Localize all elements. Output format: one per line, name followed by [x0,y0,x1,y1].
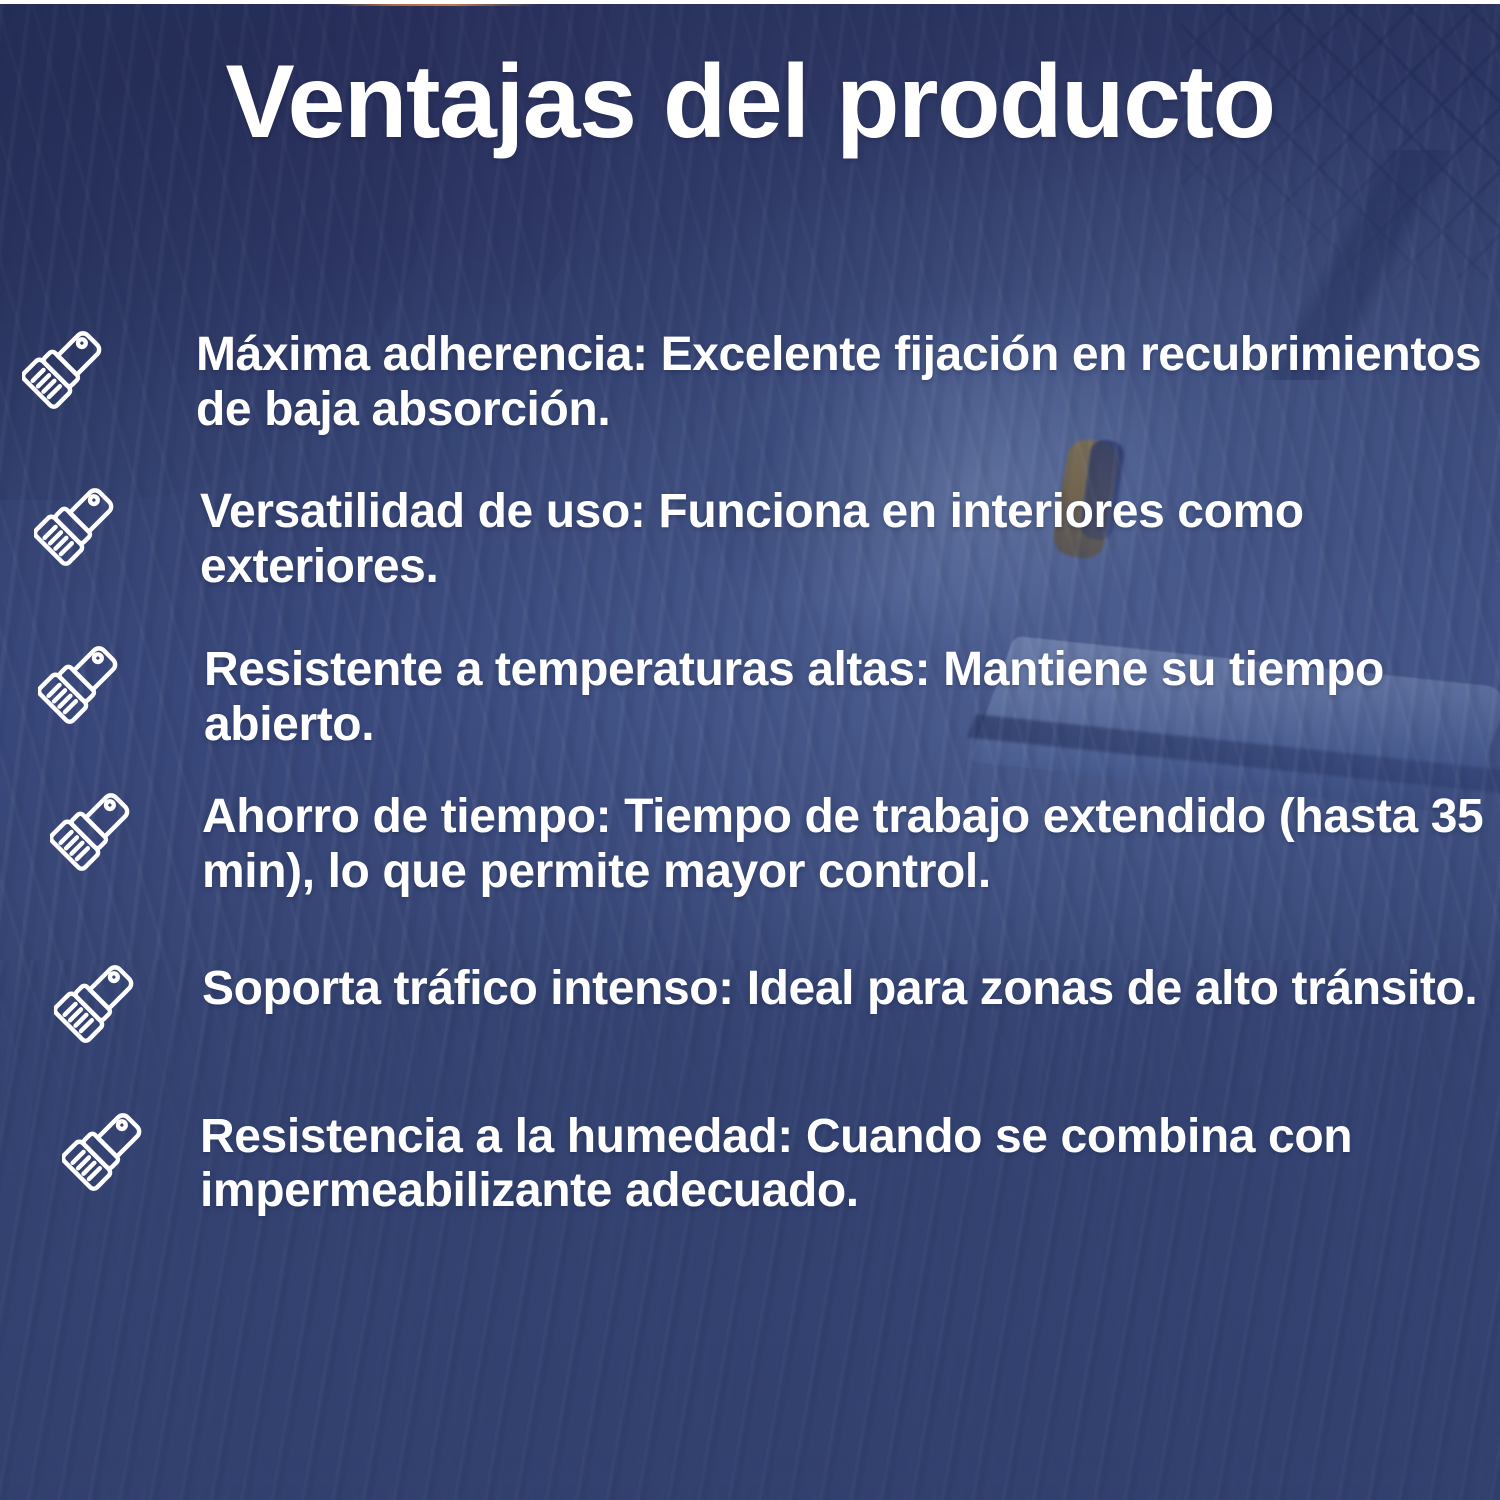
paintbrush-icon [22,324,118,420]
poster-content: Ventajas del producto Máxima a [0,0,1500,1500]
list-item-label: Versatilidad de uso: Funciona en interio… [200,479,1500,594]
page-title: Ventajas del producto [0,48,1500,157]
paintbrush-icon [54,958,150,1054]
product-benefits-poster: Ventajas del producto Máxima a [0,0,1500,1500]
list-item-label: Resistencia a la humedad: Cuando se comb… [200,1104,1500,1219]
paintbrush-icon [50,786,146,882]
list-item: Máxima adherencia: Excelente fijación en… [0,322,1500,437]
list-item: Resistente a temperaturas altas: Mantien… [0,637,1500,752]
list-item: Versatilidad de uso: Funciona en interio… [0,479,1500,594]
list-item-label: Ahorro de tiempo: Tiempo de trabajo exte… [202,784,1500,899]
benefits-list: Máxima adherencia: Excelente fijación en… [0,322,1500,1219]
paintbrush-icon [62,1106,158,1202]
list-item-label: Máxima adherencia: Excelente fijación en… [196,322,1500,437]
paintbrush-icon [34,481,130,577]
list-item-label: Soporta tráfico intenso: Ideal para zona… [202,956,1477,1017]
list-item-label: Resistente a temperaturas altas: Mantien… [204,637,1500,752]
list-item: Resistencia a la humedad: Cuando se comb… [0,1104,1500,1219]
paintbrush-icon [38,639,134,735]
list-item: Soporta tráfico intenso: Ideal para zona… [0,956,1500,1054]
list-item: Ahorro de tiempo: Tiempo de trabajo exte… [0,784,1500,899]
